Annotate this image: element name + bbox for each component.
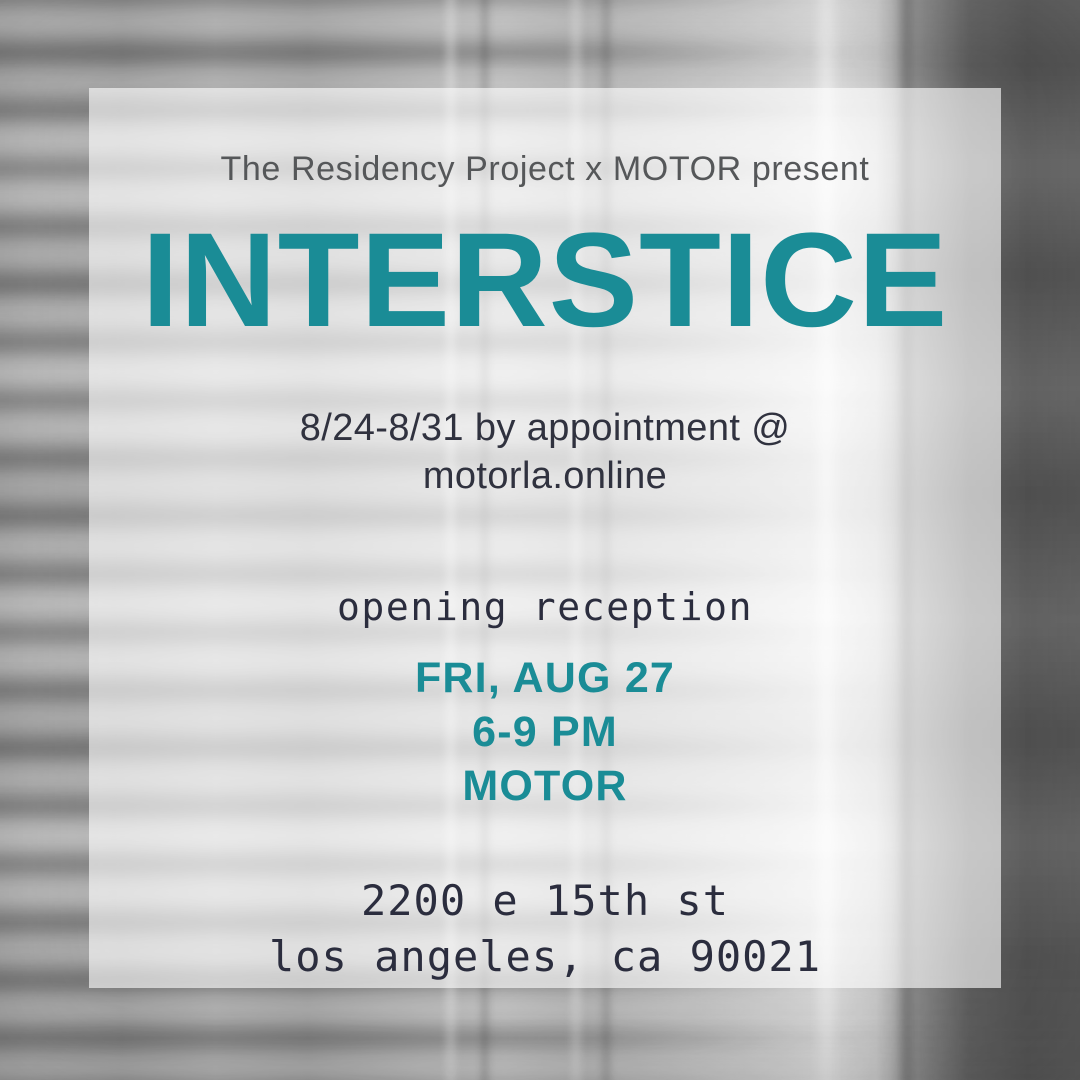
presenter-line: The Residency Project x MOTOR present bbox=[221, 150, 870, 189]
exhibition-dates: 8/24-8/31 by appointment @ motorla.onlin… bbox=[235, 404, 855, 501]
content-panel: The Residency Project x MOTOR present IN… bbox=[89, 88, 1001, 988]
reception-time: 6-9 PM bbox=[415, 705, 675, 759]
reception-details: FRI, AUG 27 6-9 PM MOTOR bbox=[415, 651, 675, 814]
venue-address: 2200 e 15th st los angeles, ca 90021 bbox=[269, 873, 821, 984]
page-title: INTERSTICE bbox=[142, 211, 949, 352]
reception-day: FRI, AUG 27 bbox=[415, 651, 675, 705]
reception-venue: MOTOR bbox=[415, 759, 675, 813]
event-poster: The Residency Project x MOTOR present IN… bbox=[0, 0, 1080, 1080]
reception-label: opening reception bbox=[337, 585, 753, 629]
